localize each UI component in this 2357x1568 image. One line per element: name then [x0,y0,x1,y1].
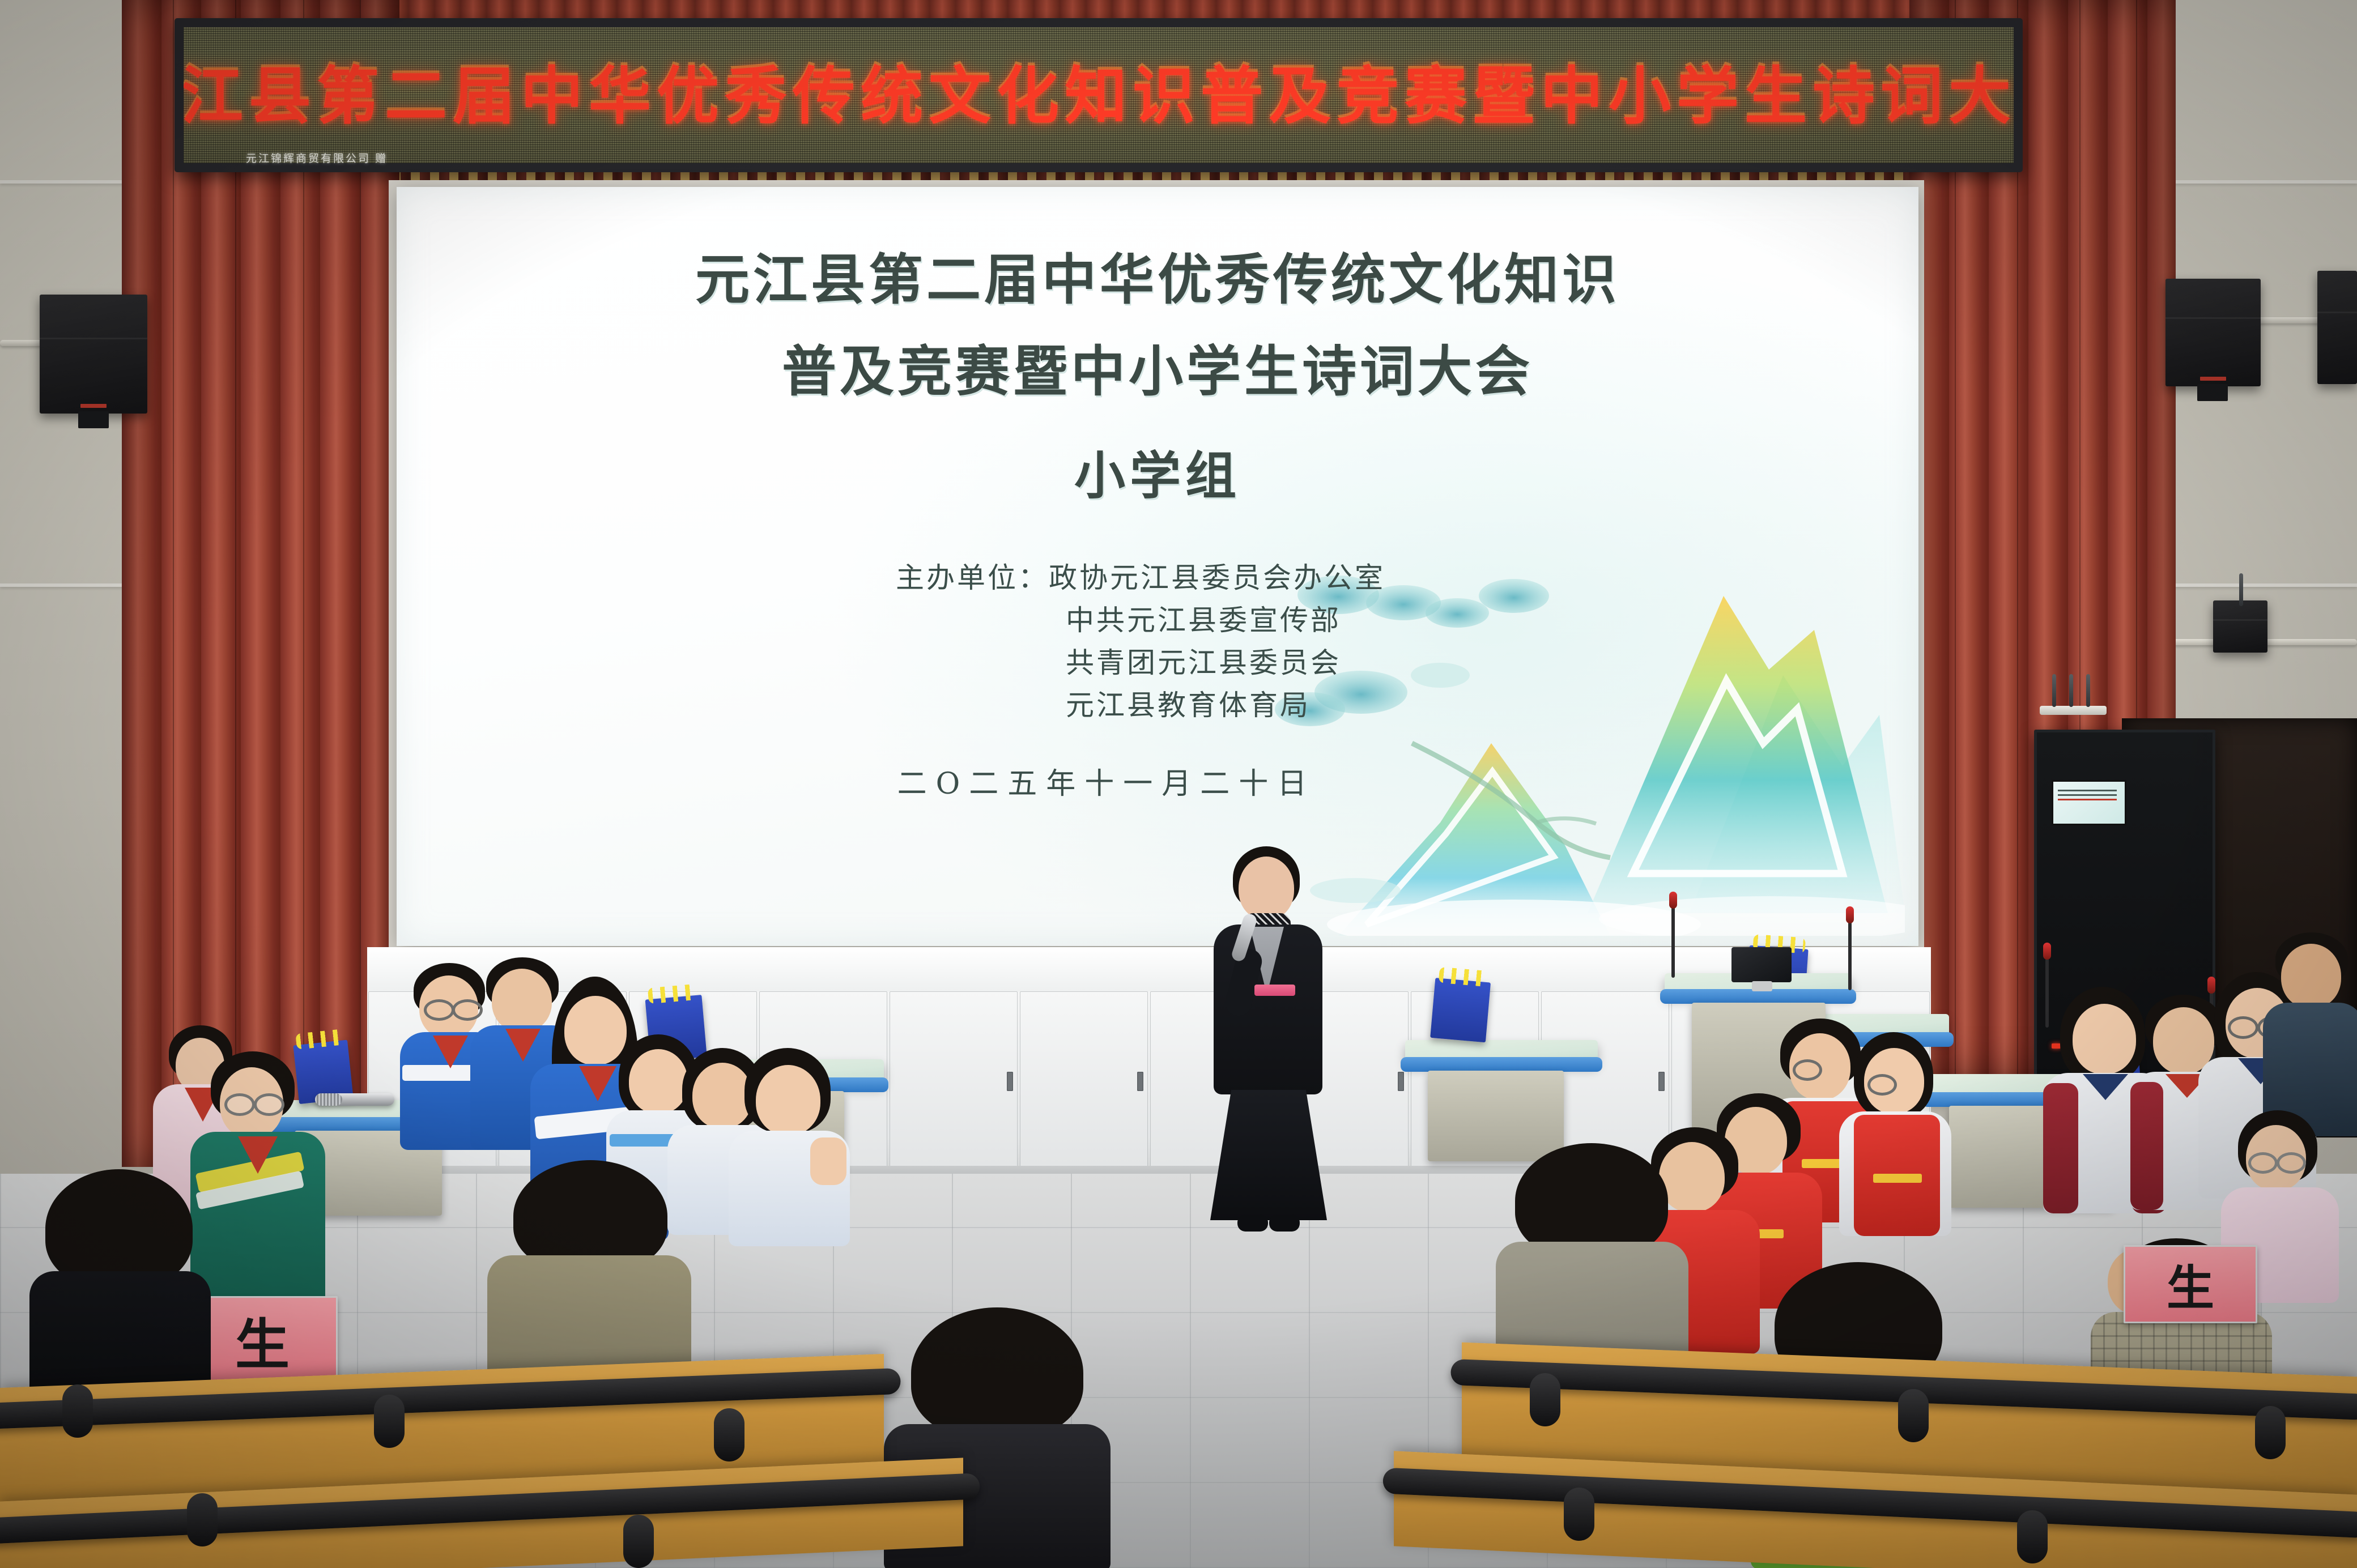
wall-speaker-left [40,295,147,414]
speaker-brand-logo [2200,377,2226,381]
glasses-icon [2228,1016,2258,1039]
desk-rail-knob [1564,1488,1594,1541]
auditorium-scene: 元江县第二届中华优秀传统文化知识普及竞赛暨中小学生诗词大会 元江锦辉商贸有限公司… [0,0,2357,1568]
answer-placard[interactable] [1430,978,1491,1042]
student-green-tracksuit [190,1051,326,1312]
desk-rail-knob [1898,1389,1929,1442]
projection-screen: 元江县第二届中华优秀传统文化知识 普及竞赛暨中小学生诗词大会 小学组 主办单位：… [397,187,1918,946]
desk-rail-knob [2255,1406,2286,1459]
desk-rail-knob [623,1515,654,1568]
lectern-monitor [1731,947,1792,982]
slide-date: 二O二五年十一月二十日 [897,760,1316,802]
speaker-bracket-right [2197,384,2228,401]
slide-title-line1: 元江县第二届中华优秀传统文化知识 [695,241,1620,318]
organizer-1: 中共元江县委宣传部 [896,599,1385,642]
desk-rail-knob [714,1408,744,1462]
host-presenter [1195,846,1337,1243]
antenna-icon [2052,674,2056,707]
speaker-bracket-left [78,411,109,428]
led-panel: 元江县第二届中华优秀传统文化知识普及竞赛暨中小学生诗词大会 [184,27,2014,163]
uniform-sleeve [2043,1083,2078,1213]
speaker-brand-logo [80,404,107,408]
slide-content: 元江县第二届中华优秀传统文化知识 普及竞赛暨中小学生诗词大会 小学组 主办单位：… [397,187,1918,946]
adult-observer-right [2263,932,2357,1136]
desk-rail-knob [1530,1373,1560,1426]
glasses-icon [2277,1152,2306,1174]
wall-speaker-right-upper [2165,279,2261,386]
student-hand [810,1137,846,1185]
lectern-monitor-stand [1752,981,1772,991]
student-white-uniform-girl-3 [729,1048,851,1246]
organizer-3: 元江县教育体育局 [896,684,1385,727]
host-shoe-right [1269,1215,1300,1232]
host-skirt [1210,1090,1327,1220]
wall-speaker-right-lower [2213,600,2267,653]
cabinet-door[interactable] [890,991,1018,1174]
organizer-2: 共青团元江县委员会 [896,642,1385,684]
host-head [1239,857,1294,920]
antenna-icon [2239,573,2243,606]
organizer-label: 主办单位： [896,561,1049,594]
gooseneck-microphone[interactable] [1671,904,1675,978]
desk-rail-knob [187,1493,218,1546]
led-banner: 元江县第二届中华优秀传统文化知识普及竞赛暨中小学生诗词大会 元江锦辉商贸有限公司… [175,18,2023,172]
host-shoe-left [1237,1215,1268,1232]
desk-microphone[interactable] [315,1093,394,1106]
host-cue-card [1254,985,1295,996]
glasses-icon [2248,1152,2278,1174]
slide-organizers: 主办单位：政协元江县委员会办公室 中共元江县委宣传部 共青团元江县委员会 元江县… [896,557,1385,727]
led-banner-credit: 元江锦辉商贸有限公司 赠 [246,150,388,165]
av-monitor-slide-lines [2058,790,2117,791]
slide-title-line2: 普及竞赛暨中小学生诗词大会 [782,333,1533,410]
stage-curtain-left [122,0,399,1167]
glasses-icon [254,1093,284,1116]
glasses-icon [424,999,454,1021]
wifi-router [2040,706,2107,715]
vest-text [1873,1174,1922,1183]
desk-rail-knob [374,1395,405,1448]
glasses-icon [1867,1074,1897,1096]
antenna-icon [2086,674,2090,707]
uniform-sleeve [2130,1082,2163,1210]
led-banner-text: 元江县第二届中华优秀传统文化知识普及竞赛暨中小学生诗词大会 [184,45,2014,136]
desk-name-card-right: 生 [2124,1245,2257,1323]
gooseneck-microphone[interactable] [1848,919,1852,990]
organizer-0: 政协元江县委员会办公室 [1049,561,1385,594]
slide-group-label: 小学组 [1074,434,1241,508]
cabinet-door[interactable] [1020,991,1148,1174]
desk-rail-knob [2017,1510,2048,1563]
student-red-vest-b [1839,1032,1952,1236]
desk-rail-knob [62,1384,93,1438]
av-preview-monitor [2052,780,2126,825]
antenna-icon [2069,674,2073,707]
glasses-icon [1793,1059,1822,1081]
desk-edge [1401,1057,1602,1072]
contestant-desk [1405,1040,1598,1064]
wall-speaker-far-right [2317,271,2357,384]
glasses-icon [224,1093,255,1116]
